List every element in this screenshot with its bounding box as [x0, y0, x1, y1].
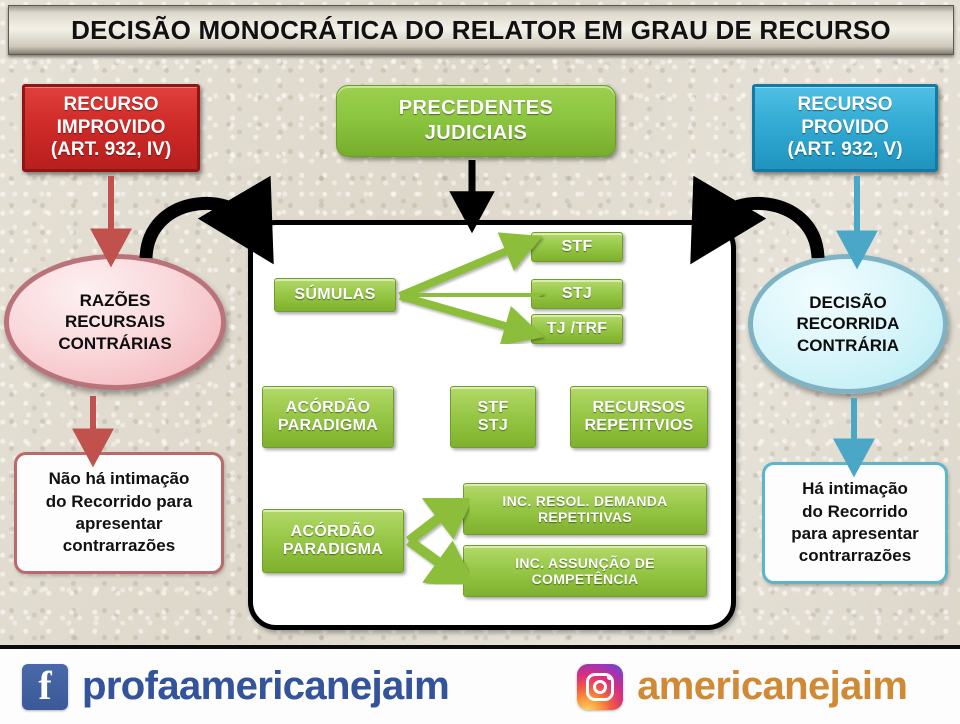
- recurso-provido-line2: PROVIDO: [801, 117, 889, 139]
- instagram-handle: americanejaim: [637, 664, 907, 709]
- tj-trf-box[interactable]: TJ /TRF: [531, 314, 623, 344]
- ha-intimacao-note[interactable]: Há intimação do Recorrido para apresenta…: [762, 462, 948, 584]
- recurso-improvido-line1: RECURSO: [63, 94, 158, 116]
- nao-ha-intimacao-line1: Não há intimação: [49, 468, 190, 490]
- inc-assuncao-line1: INC. ASSUNÇÃO DE: [515, 555, 655, 571]
- stf-stj-line2: STJ: [478, 417, 508, 435]
- acordao-paradigma-box-1[interactable]: ACÓRDÃO PARADIGMA: [262, 386, 394, 448]
- stf-stj-line1: STF: [477, 399, 508, 417]
- recurso-improvido-box[interactable]: RECURSO IMPROVIDO (ART. 932, IV): [22, 84, 200, 172]
- acordao-2-line1: ACÓRDÃO: [291, 523, 376, 541]
- decisao-line3: CONTRÁRIA: [797, 335, 899, 356]
- sumulas-box[interactable]: SÚMULAS: [274, 278, 396, 312]
- nao-ha-intimacao-line2: do Recorrido para: [46, 491, 192, 513]
- decisao-recorrida-contraria-ellipse[interactable]: DECISÃO RECORRIDA CONTRÁRIA: [748, 254, 948, 394]
- stf-label: STF: [561, 238, 592, 256]
- sumulas-label: SÚMULAS: [294, 286, 375, 304]
- decisao-line1: DECISÃO: [809, 292, 886, 313]
- instagram-lens: [593, 680, 607, 694]
- stj-label: STJ: [562, 285, 592, 303]
- facebook-handle-group[interactable]: profaamericanejaim: [22, 664, 449, 710]
- nao-ha-intimacao-line4: contrarrazões: [63, 535, 175, 557]
- acordao-2-line2: PARADIGMA: [283, 541, 383, 559]
- tj-trf-label: TJ /TRF: [547, 320, 608, 338]
- razoes-recursais-contrarias-ellipse[interactable]: RAZÕES RECURSAIS CONTRÁRIAS: [4, 254, 226, 390]
- razoes-line2: RECURSAIS: [65, 311, 165, 332]
- recursos-repetitivos-box[interactable]: RECURSOS REPETITVIOS: [570, 386, 708, 448]
- page-title: DECISÃO MONOCRÁTICA DO RELATOR EM GRAU D…: [71, 15, 891, 46]
- razoes-line1: RAZÕES: [80, 290, 151, 311]
- instagram-dot: [607, 675, 612, 680]
- nao-ha-intimacao-note[interactable]: Não há intimação do Recorrido para apres…: [14, 452, 224, 574]
- facebook-icon: [22, 664, 68, 710]
- recurso-provido-box[interactable]: RECURSO PROVIDO (ART. 932, V): [752, 84, 938, 172]
- precedentes-judiciais-box[interactable]: PRECEDENTES JUDICIAIS: [336, 85, 616, 157]
- acordao-1-line2: PARADIGMA: [278, 417, 378, 435]
- instagram-handle-group[interactable]: americanejaim: [577, 664, 907, 710]
- nao-ha-intimacao-line3: apresentar: [76, 513, 163, 535]
- social-footer: profaamericanejaim americanejaim: [0, 645, 960, 724]
- stf-stj-box[interactable]: STF STJ: [450, 386, 536, 448]
- acordao-1-line1: ACÓRDÃO: [286, 399, 371, 417]
- inc-resol-line1: INC. RESOL. DEMANDA: [502, 493, 667, 509]
- inc-resol-line2: REPETITIVAS: [538, 509, 632, 525]
- acordao-paradigma-box-2[interactable]: ACÓRDÃO PARADIGMA: [262, 509, 404, 573]
- inc-assuncao-line2: COMPETÊNCIA: [532, 571, 639, 587]
- recursos-repetitivos-line2: REPETITVIOS: [584, 417, 693, 435]
- stj-box[interactable]: STJ: [531, 279, 623, 309]
- ha-intimacao-line4: contrarrazões: [799, 545, 911, 567]
- recurso-improvido-line2: IMPROVIDO: [57, 117, 166, 139]
- razoes-line3: CONTRÁRIAS: [58, 333, 171, 354]
- facebook-handle: profaamericanejaim: [82, 664, 449, 709]
- recurso-provido-line3: (ART. 932, V): [787, 139, 902, 161]
- recurso-provido-line1: RECURSO: [797, 94, 892, 116]
- inc-resol-demanda-repetitivas-box[interactable]: INC. RESOL. DEMANDA REPETITIVAS: [463, 483, 707, 535]
- stf-box[interactable]: STF: [531, 232, 623, 262]
- ha-intimacao-line3: para apresentar: [791, 523, 919, 545]
- recurso-improvido-line3: (ART. 932, IV): [51, 139, 171, 161]
- ha-intimacao-line1: Há intimação: [802, 478, 908, 500]
- recursos-repetitivos-line1: RECURSOS: [592, 399, 685, 417]
- precedentes-line1: PRECEDENTES: [399, 96, 553, 121]
- ha-intimacao-line2: do Recorrido: [802, 501, 908, 523]
- inc-assuncao-competencia-box[interactable]: INC. ASSUNÇÃO DE COMPETÊNCIA: [463, 545, 707, 597]
- page-title-banner: DECISÃO MONOCRÁTICA DO RELATOR EM GRAU D…: [8, 5, 954, 55]
- precedentes-line2: JUDICIAIS: [425, 121, 528, 146]
- instagram-icon: [577, 664, 623, 710]
- decisao-line2: RECORRIDA: [797, 313, 900, 334]
